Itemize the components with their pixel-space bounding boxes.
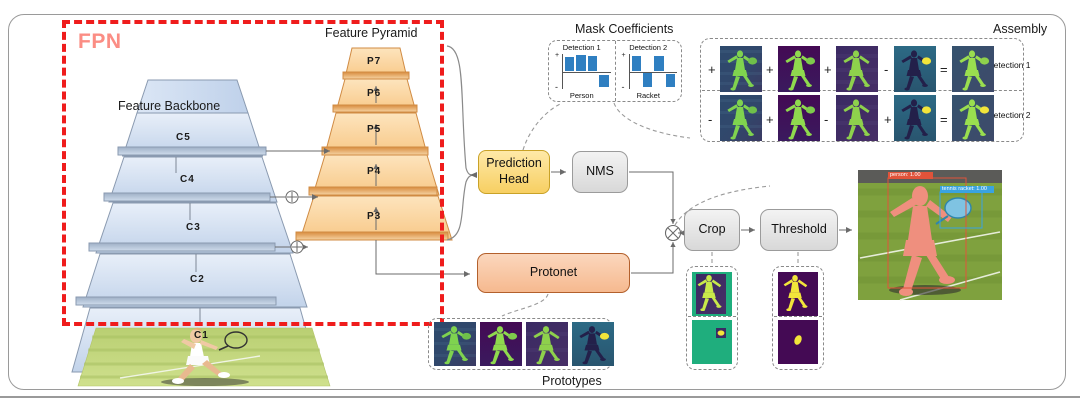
plus-sign-2: + <box>622 52 626 59</box>
prediction-head-label: Prediction Head <box>479 156 549 187</box>
figure-bottom-rule <box>0 396 1080 398</box>
backbone-level-c5: C5 <box>176 132 191 143</box>
person-detection-tag: person: 1.00 <box>889 172 922 179</box>
crop-label: Crop <box>698 222 725 238</box>
pyramid-level-p7: P7 <box>367 56 381 67</box>
mask-coeff-detection-1: Detection 1 + - Person <box>549 41 615 101</box>
mask-coefficients-title: Mask Coefficients <box>575 22 673 36</box>
protonet-label: Protonet <box>530 265 577 281</box>
mask-coefficients-panel: Detection 1 + - Person Detection 2 + - <box>548 40 682 102</box>
backbone-level-c2: C2 <box>190 274 205 285</box>
assembly-title: Assembly <box>993 22 1047 36</box>
assembly-r2-equals: = <box>940 112 948 127</box>
assembly-r2-sign-1: - <box>708 112 712 127</box>
mask-coeff-detection-2: Detection 2 + - Racket <box>615 41 682 101</box>
crop-node[interactable]: Crop <box>684 209 740 251</box>
pyramid-level-p5: P5 <box>367 124 381 135</box>
figure-canvas: FPN Feature Backbone Feature Pyramid Mas… <box>0 0 1080 416</box>
assembly-r2-sign-4: + <box>884 112 892 127</box>
assembly-r1-equals: = <box>940 62 948 77</box>
nms-label: NMS <box>586 164 614 180</box>
mask-coeff-footer-2: Racket <box>616 91 682 100</box>
fpn-label: FPN <box>78 30 122 54</box>
backbone-level-c1: C1 <box>194 330 209 341</box>
assembly-r1-sign-2: + <box>766 62 774 77</box>
assembly-r1-label: Detection 1 <box>986 60 1032 71</box>
assembly-r2-sign-3: - <box>824 112 828 127</box>
plus-sign-1: + <box>555 52 559 59</box>
assembly-panel <box>700 38 1024 142</box>
mask-coeff-title-1: Detection 1 <box>549 43 615 52</box>
protonet-node[interactable]: Protonet <box>477 253 630 293</box>
prototypes-title: Prototypes <box>542 374 602 388</box>
racket-detection-tag: tennis racket: 1.00 <box>941 186 988 193</box>
pyramid-level-p4: P4 <box>367 166 381 177</box>
mask-coeff-bars-2 <box>632 54 676 89</box>
assembly-r1-sign-3: + <box>824 62 832 77</box>
assembly-r1-sign-4: - <box>884 62 888 77</box>
assembly-r2-label: Detection 2 <box>986 110 1032 121</box>
crop-output-panel <box>686 266 738 370</box>
assembly-r2-sign-2: + <box>766 112 774 127</box>
backbone-level-c3: C3 <box>186 222 201 233</box>
feature-pyramid-title: Feature Pyramid <box>325 26 417 40</box>
threshold-label: Threshold <box>771 222 827 238</box>
threshold-node[interactable]: Threshold <box>760 209 838 251</box>
prototypes-panel <box>428 318 612 370</box>
backbone-level-c4: C4 <box>180 174 195 185</box>
mask-coeff-footer-1: Person <box>549 91 615 100</box>
prediction-head-node[interactable]: Prediction Head <box>478 150 550 194</box>
mask-coeff-bars-1 <box>565 54 609 89</box>
feature-backbone-title: Feature Backbone <box>118 99 220 113</box>
assembly-r1-sign-1: + <box>708 62 716 77</box>
pyramid-level-p3: P3 <box>367 211 381 222</box>
mask-coeff-title-2: Detection 2 <box>616 43 682 52</box>
pyramid-level-p6: P6 <box>367 88 381 99</box>
threshold-output-panel <box>772 266 824 370</box>
nms-node[interactable]: NMS <box>572 151 628 193</box>
fpn-highlight-box <box>62 20 444 326</box>
